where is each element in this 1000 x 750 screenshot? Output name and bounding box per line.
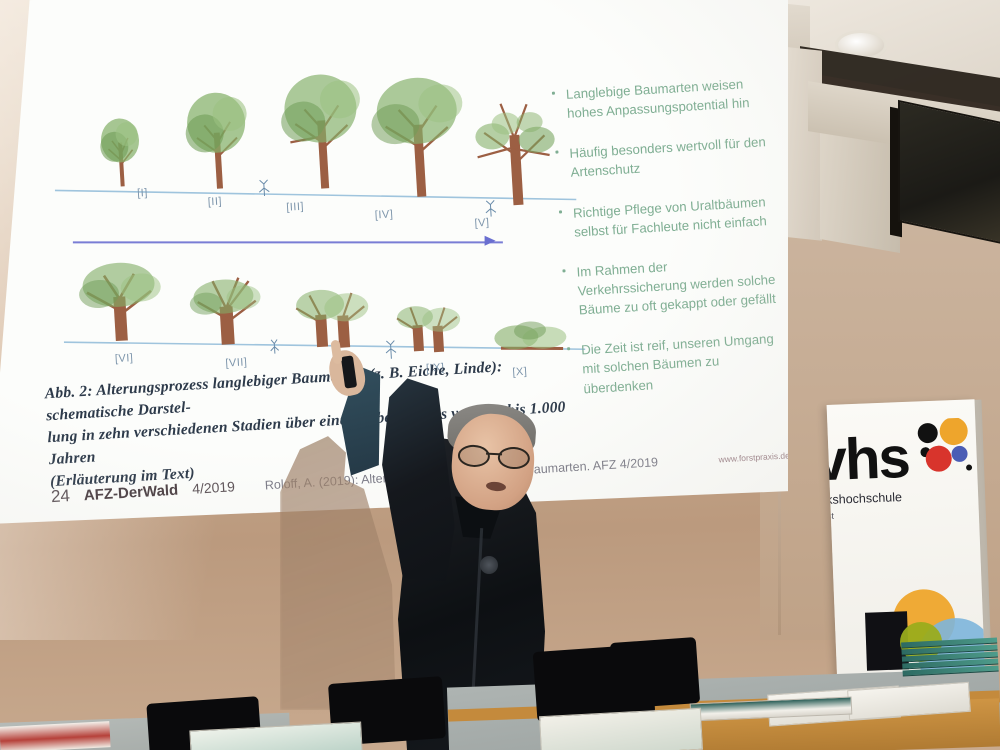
stage-label-iv: [IV] [375, 208, 394, 221]
glasses-icon [458, 444, 531, 466]
screenshot-root: [I] [II] [III] [IV] [V] [0, 0, 1000, 750]
vhs-logo-dots-icon [911, 417, 983, 482]
book-stack[interactable] [901, 638, 999, 681]
red-book-stack[interactable] [0, 721, 111, 750]
vhs-logo-text: vhs [827, 424, 910, 495]
source-url: www.forstpraxis.de [718, 450, 790, 464]
stage-label-iii: [III] [286, 201, 304, 214]
slide-bullet-list: Langlebige Baumarten weisen hohes Anpass… [550, 73, 784, 420]
journal-name: AFZ-DerWald [83, 482, 178, 505]
bullet-item: Häufig besonders wertvoll für den Artens… [553, 132, 770, 183]
bullet-item: Richtige Pflege von Uraltbäumen selbst f… [557, 191, 774, 242]
stage-label-v: [V] [474, 217, 490, 230]
vhs-subtitle: kshochschule [827, 490, 903, 507]
stage-label-ii: [II] [207, 196, 222, 209]
journal-issue: 4/2019 [192, 478, 236, 497]
dark-ceiling-opening [898, 100, 1000, 246]
jacket-logo [480, 556, 498, 574]
stage-label-vi: [VI] [115, 352, 134, 365]
stage-label-i: [I] [137, 187, 148, 200]
bullet-item: Im Rahmen der Verkehrssicherung werden s… [560, 251, 778, 321]
chair-back[interactable] [610, 637, 700, 709]
page-number: 24 [50, 486, 70, 507]
stage-label-vii: [VII] [225, 356, 248, 369]
brochure[interactable] [539, 708, 703, 750]
